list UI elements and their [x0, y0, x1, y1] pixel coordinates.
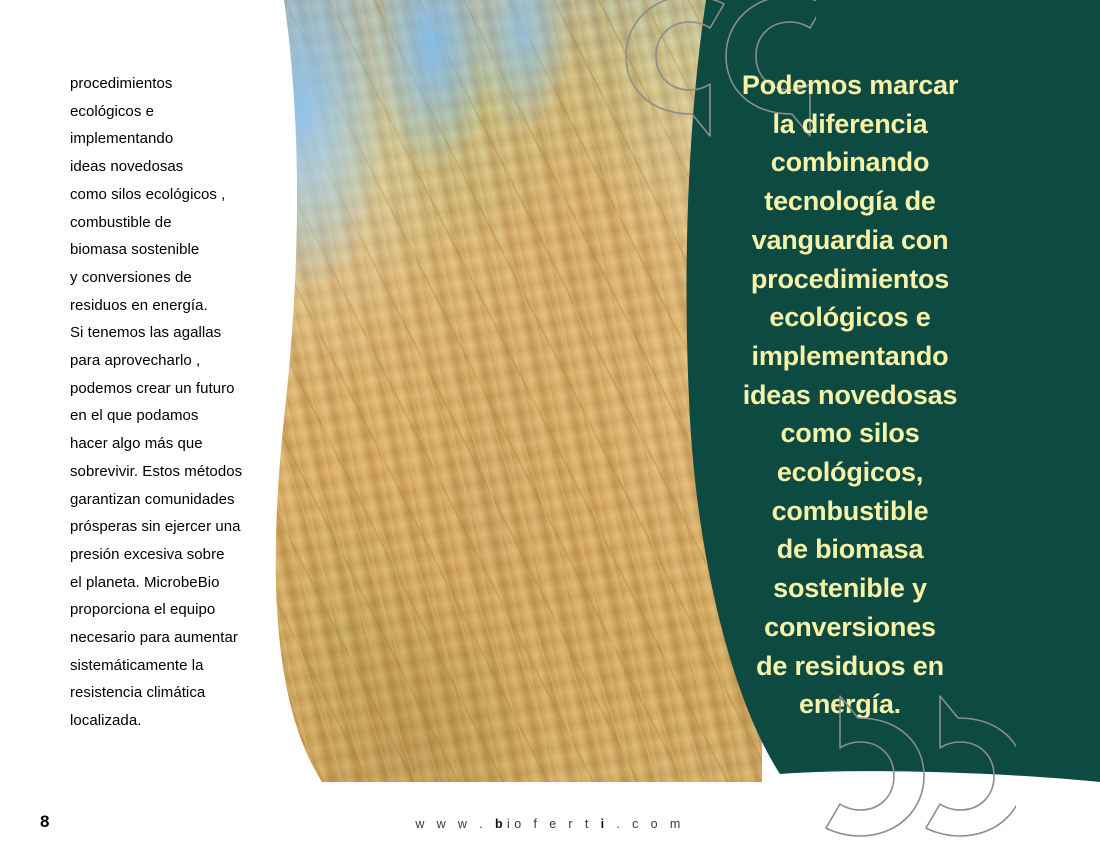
page-number: 8: [40, 812, 49, 832]
footer-url-segment: w w w .: [415, 817, 495, 831]
slide-page: procedimientos ecológicos e implementand…: [0, 0, 1100, 850]
footer-url-segment: b: [495, 817, 507, 831]
footer-url-segment: . c o m: [608, 817, 684, 831]
footer-url-segment: o f e r t: [514, 817, 600, 831]
footer-website-url[interactable]: w w w . bio f e r t i . c o m: [300, 817, 800, 831]
pull-quote-text: Podemos marcar la diferencia combinando …: [700, 66, 1000, 724]
body-copy: procedimientos ecológicos e implementand…: [70, 70, 302, 735]
body-copy-text: procedimientos ecológicos e implementand…: [70, 70, 302, 735]
